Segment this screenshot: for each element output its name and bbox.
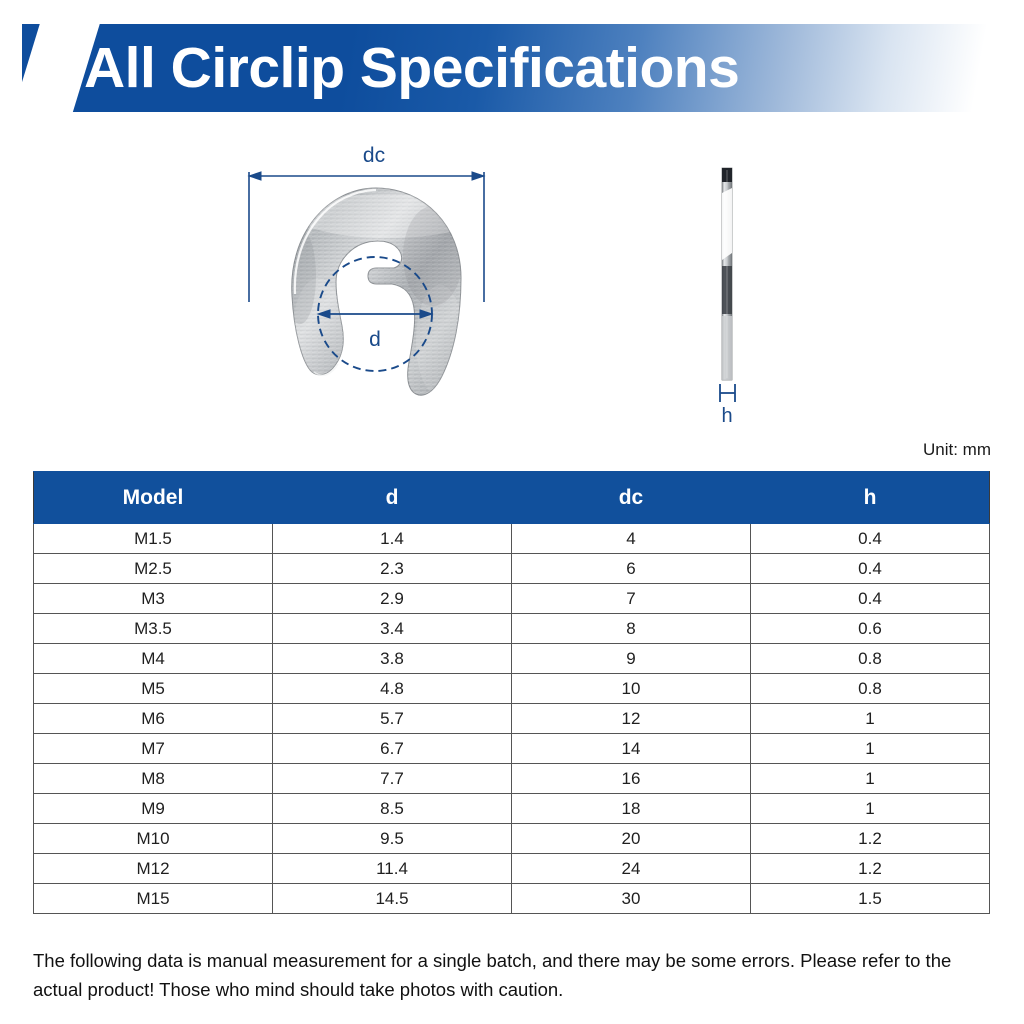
- e-clip-side-view-svg: h: [660, 148, 810, 428]
- table-row: M87.7161: [34, 764, 990, 794]
- table-row: M43.890.8: [34, 644, 990, 674]
- cell-dc: 24: [512, 854, 751, 884]
- cell-d: 3.4: [273, 614, 512, 644]
- cell-dc: 16: [512, 764, 751, 794]
- cell-d: 4.8: [273, 674, 512, 704]
- table-row: M1514.5301.5: [34, 884, 990, 914]
- table-row: M65.7121: [34, 704, 990, 734]
- table-row: M54.8100.8: [34, 674, 990, 704]
- cell-dc: 18: [512, 794, 751, 824]
- column-header-dc: dc: [512, 472, 751, 524]
- cell-model: M7: [34, 734, 273, 764]
- cell-dc: 20: [512, 824, 751, 854]
- dimension-label-dc: dc: [363, 144, 385, 167]
- spec-sheet-page: All Circlip Specifications: [0, 0, 1024, 1024]
- header-banner: All Circlip Specifications: [0, 24, 1024, 112]
- cell-d: 2.9: [273, 584, 512, 614]
- column-header-model: Model: [34, 472, 273, 524]
- e-clip-side-view: h: [660, 148, 810, 428]
- cell-model: M3.5: [34, 614, 273, 644]
- cell-d: 3.8: [273, 644, 512, 674]
- e-clip-edge-strip: [722, 168, 732, 380]
- cell-d: 2.3: [273, 554, 512, 584]
- cell-h: 0.4: [751, 524, 990, 554]
- specifications-table: Model d dc h M1.51.440.4M2.52.360.4M32.9…: [33, 471, 990, 914]
- cell-d: 1.4: [273, 524, 512, 554]
- cell-dc: 7: [512, 584, 751, 614]
- cell-d: 6.7: [273, 734, 512, 764]
- e-clip-front-view: dc: [228, 136, 518, 426]
- table-row: M3.53.480.6: [34, 614, 990, 644]
- cell-h: 1.5: [751, 884, 990, 914]
- cell-dc: 12: [512, 704, 751, 734]
- cell-h: 0.6: [751, 614, 990, 644]
- cell-h: 1: [751, 794, 990, 824]
- cell-d: 14.5: [273, 884, 512, 914]
- cell-model: M6: [34, 704, 273, 734]
- cell-d: 9.5: [273, 824, 512, 854]
- cell-h: 1: [751, 734, 990, 764]
- dimension-label-h: h: [721, 405, 732, 427]
- column-header-d: d: [273, 472, 512, 524]
- cell-d: 5.7: [273, 704, 512, 734]
- cell-h: 1.2: [751, 824, 990, 854]
- table-row: M76.7141: [34, 734, 990, 764]
- cell-d: 7.7: [273, 764, 512, 794]
- cell-h: 0.4: [751, 584, 990, 614]
- unit-label: Unit: mm: [923, 440, 991, 460]
- product-figure-area: dc: [0, 128, 1024, 433]
- table-row: M2.52.360.4: [34, 554, 990, 584]
- cell-model: M8: [34, 764, 273, 794]
- cell-h: 1.2: [751, 854, 990, 884]
- table-body: M1.51.440.4M2.52.360.4M32.970.4M3.53.480…: [34, 524, 990, 914]
- cell-model: M2.5: [34, 554, 273, 584]
- table-head: Model d dc h: [34, 472, 990, 524]
- table-row: M32.970.4: [34, 584, 990, 614]
- e-clip-front-view-svg: dc: [228, 136, 518, 426]
- dimension-label-d: d: [369, 328, 381, 351]
- cell-model: M10: [34, 824, 273, 854]
- cell-h: 0.8: [751, 674, 990, 704]
- cell-d: 11.4: [273, 854, 512, 884]
- cell-model: M5: [34, 674, 273, 704]
- cell-h: 1: [751, 704, 990, 734]
- page-title: All Circlip Specifications: [84, 30, 964, 106]
- table-row: M1.51.440.4: [34, 524, 990, 554]
- cell-model: M1.5: [34, 524, 273, 554]
- cell-h: 0.8: [751, 644, 990, 674]
- cell-d: 8.5: [273, 794, 512, 824]
- table-row: M109.5201.2: [34, 824, 990, 854]
- cell-model: M9: [34, 794, 273, 824]
- cell-dc: 6: [512, 554, 751, 584]
- cell-dc: 9: [512, 644, 751, 674]
- table-row: M1211.4241.2: [34, 854, 990, 884]
- cell-dc: 8: [512, 614, 751, 644]
- table-row: M98.5181: [34, 794, 990, 824]
- cell-dc: 30: [512, 884, 751, 914]
- disclaimer-note: The following data is manual measurement…: [33, 946, 993, 1004]
- cell-model: M12: [34, 854, 273, 884]
- cell-model: M4: [34, 644, 273, 674]
- cell-dc: 10: [512, 674, 751, 704]
- cell-dc: 14: [512, 734, 751, 764]
- cell-dc: 4: [512, 524, 751, 554]
- specifications-table-container: Model d dc h M1.51.440.4M2.52.360.4M32.9…: [33, 471, 990, 914]
- cell-model: M3: [34, 584, 273, 614]
- h-dimension-bracket: [720, 384, 735, 402]
- cell-h: 0.4: [751, 554, 990, 584]
- cell-h: 1: [751, 764, 990, 794]
- cell-model: M15: [34, 884, 273, 914]
- table-header-row: Model d dc h: [34, 472, 990, 524]
- column-header-h: h: [751, 472, 990, 524]
